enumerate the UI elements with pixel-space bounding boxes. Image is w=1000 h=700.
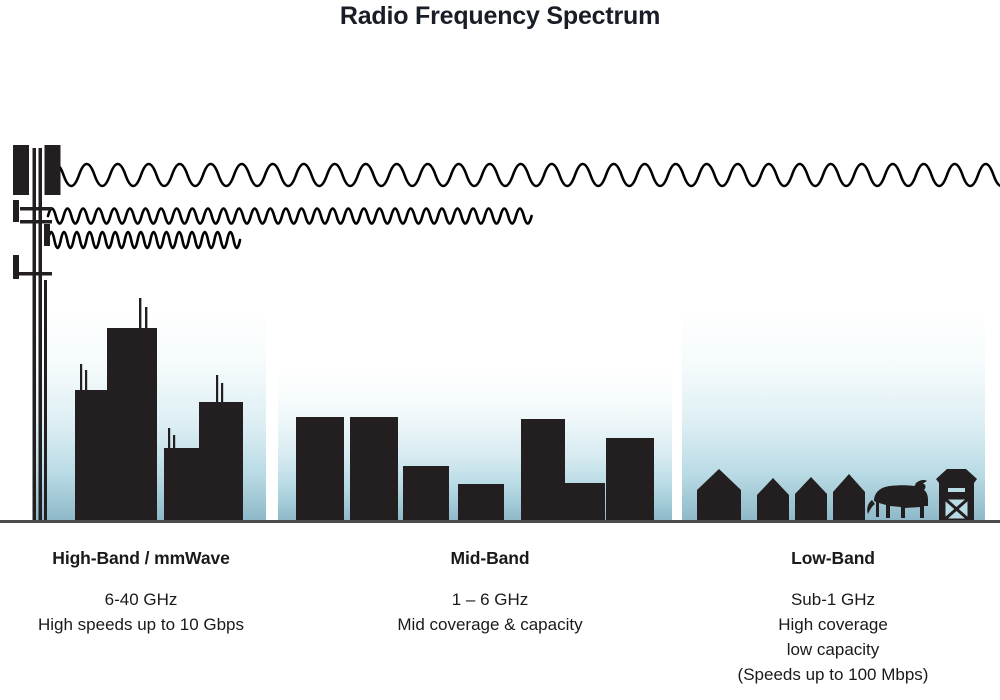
band-label-mid-band: Mid-Band 1 – 6 GHz Mid coverage & capaci…	[332, 548, 648, 637]
band-label-high-band: High-Band / mmWave 6-40 GHz High speeds …	[0, 548, 282, 637]
tower-crossbar-2	[20, 220, 52, 224]
wave-medium-wavelength	[48, 209, 532, 224]
mid-building-5b	[565, 483, 605, 520]
band-name-mid-band: Mid-Band	[332, 548, 648, 569]
city-building-2-spire-b	[145, 307, 147, 328]
tower-antenna-panel-right	[45, 145, 61, 195]
band-detail-high-band-0: High speeds up to 10 Gbps	[0, 612, 282, 637]
tower-crossbar-1	[20, 207, 52, 211]
mid-building-5	[521, 419, 565, 520]
tower-leg	[44, 280, 47, 520]
mid-building-1	[296, 417, 344, 520]
wave-long-wavelength	[48, 164, 1000, 186]
mid-building-4	[458, 484, 504, 520]
tower-mast-left	[33, 148, 37, 520]
band-frequency-mid-band: 1 – 6 GHz	[332, 587, 648, 612]
mid-building-6	[606, 438, 654, 520]
band-frequency-high-band: 6-40 GHz	[0, 587, 282, 612]
city-building-3-spire-a	[168, 428, 170, 448]
city-building-3-spire-b	[173, 435, 175, 448]
city-building-1-spire-a	[80, 364, 82, 390]
tower-mast-right	[39, 148, 43, 520]
band-detail-mid-band-0: Mid coverage & capacity	[332, 612, 648, 637]
band-name-high-band: High-Band / mmWave	[0, 548, 282, 569]
wave-short-wavelength	[48, 232, 240, 248]
band-desc-low-band: Sub-1 GHz High coverage low capacity (Sp…	[678, 587, 988, 687]
tower-small-antenna-2	[44, 224, 50, 246]
city-building-4-spire-a	[216, 375, 218, 402]
city-building-3	[164, 448, 204, 520]
band-detail-low-band-2: (Speeds up to 100 Mbps)	[678, 662, 988, 687]
band-desc-mid-band: 1 – 6 GHz Mid coverage & capacity	[332, 587, 648, 637]
band-detail-low-band-1: low capacity	[678, 637, 988, 662]
band-desc-high-band: 6-40 GHz High speeds up to 10 Gbps	[0, 587, 282, 637]
infographic-root: Radio Frequency Spectrum	[0, 0, 1000, 700]
tower-antenna-panel-left	[13, 145, 29, 195]
city-building-1-spire-b	[85, 370, 87, 390]
tower-small-antenna-1	[13, 200, 19, 222]
band-label-low-band: Low-Band Sub-1 GHz High coverage low cap…	[678, 548, 988, 687]
city-building-2	[107, 328, 157, 520]
city-building-4	[199, 402, 243, 520]
city-building-2-spire-a	[139, 298, 141, 328]
tower-small-antenna-3	[13, 255, 19, 279]
band-name-low-band: Low-Band	[678, 548, 988, 569]
band-detail-low-band-0: High coverage	[678, 612, 988, 637]
mid-building-2	[350, 417, 398, 520]
band-frequency-low-band: Sub-1 GHz	[678, 587, 988, 612]
barn-icon	[936, 469, 977, 520]
radio-waves	[48, 164, 1000, 248]
barn-loft-window	[948, 488, 965, 492]
city-building-4-spire-b	[221, 383, 223, 402]
mid-building-3	[403, 466, 449, 520]
